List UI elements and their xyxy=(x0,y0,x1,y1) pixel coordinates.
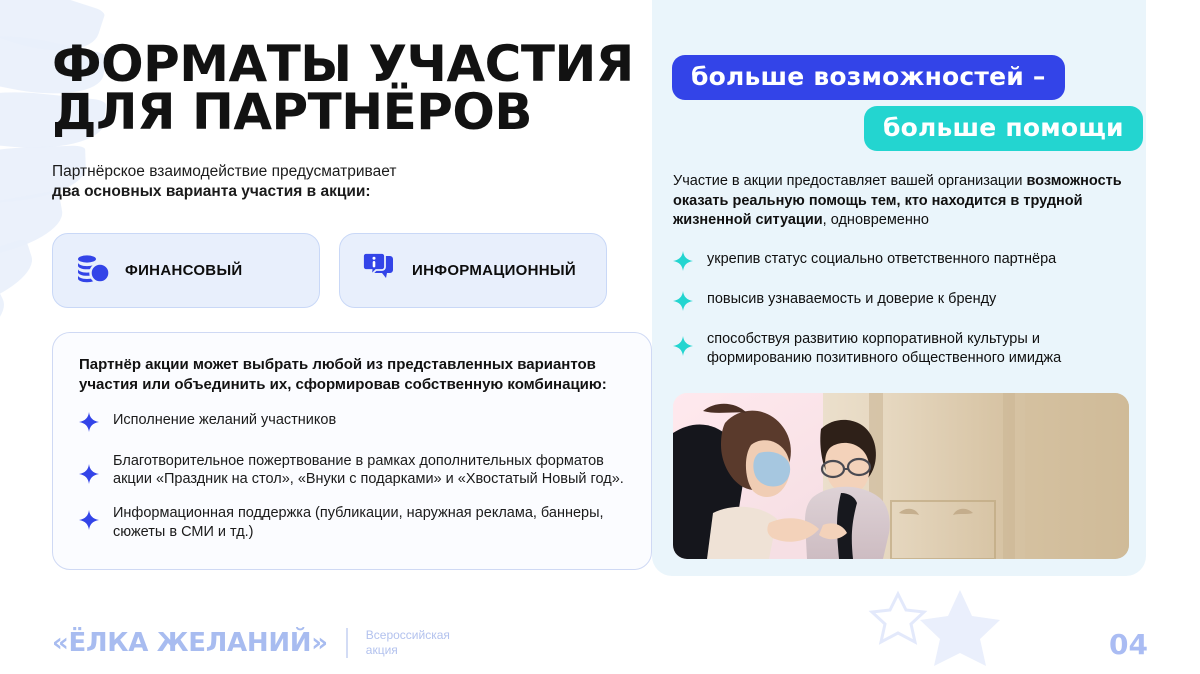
presentation-slide: ФОРМАТЫ УЧАСТИЯ ДЛЯ ПАРТНЁРОВ Партнёрско… xyxy=(0,0,1200,674)
page-title-line2: ДЛЯ ПАРТНЁРОВ xyxy=(52,88,652,136)
left-column: ФОРМАТЫ УЧАСТИЯ ДЛЯ ПАРТНЁРОВ Партнёрско… xyxy=(52,40,652,203)
sparkle-icon xyxy=(79,510,99,535)
combination-bullet-list: Исполнение желаний участников Благотвори… xyxy=(79,411,625,541)
combination-card-heading: Партнёр акции может выбрать любой из пре… xyxy=(79,355,625,395)
headline-badges: больше возможностей – больше помощи xyxy=(672,55,1152,145)
page-title: ФОРМАТЫ УЧАСТИЯ ДЛЯ ПАРТНЁРОВ xyxy=(52,40,652,136)
option-label-financial: ФИНАНСОВЫЙ xyxy=(125,262,243,279)
option-card-financial[interactable]: ФИНАНСОВЫЙ xyxy=(52,233,320,308)
page-number: 04 xyxy=(1109,628,1148,661)
right-intro-part1: Участие в акции предоставляет вашей орга… xyxy=(673,173,1026,189)
option-card-informational[interactable]: ИНФОРМАЦИОННЫЙ xyxy=(339,233,607,308)
list-item: Исполнение желаний участников xyxy=(79,411,625,437)
intro-line2: два основных варианта участия в акции: xyxy=(52,183,371,200)
badge-more-help: больше помощи xyxy=(864,106,1143,151)
footer-divider xyxy=(346,628,348,658)
list-item-text: Информационная поддержка (публикации, на… xyxy=(113,504,625,541)
benefits-list: укрепив статус социально ответственного … xyxy=(673,250,1133,381)
list-item: способствуя развитию корпоративной культ… xyxy=(673,330,1133,367)
footer-subtitle-line1: Всероссийская xyxy=(366,628,450,642)
footer-subtitle: Всероссийская акция xyxy=(366,628,450,657)
list-item: повысив узнаваемость и доверие к бренду xyxy=(673,290,1133,316)
sparkle-icon xyxy=(79,412,99,437)
option-label-informational: ИНФОРМАЦИОННЫЙ xyxy=(412,262,576,279)
intro-line1: Партнёрское взаимодействие предусматрива… xyxy=(52,163,396,180)
brand-logo: «ЁЛКА ЖЕЛАНИЙ» xyxy=(52,628,328,658)
sparkle-icon xyxy=(79,464,99,489)
decorative-stars xyxy=(868,588,1028,668)
footer-brand: «ЁЛКА ЖЕЛАНИЙ» Всероссийская акция xyxy=(52,628,450,658)
list-item-text: способствуя развитию корпоративной культ… xyxy=(707,330,1133,367)
list-item: Информационная поддержка (публикации, на… xyxy=(79,504,625,541)
right-intro-part2: , одновременно xyxy=(823,212,929,228)
list-item-text: Исполнение желаний участников xyxy=(113,411,336,430)
list-item: Благотворительное пожертвование в рамках… xyxy=(79,452,625,489)
list-item-text: укрепив статус социально ответственного … xyxy=(707,250,1056,269)
list-item-text: Благотворительное пожертвование в рамках… xyxy=(113,452,625,489)
participation-options: ФИНАНСОВЫЙ ИНФОРМАЦИОННЫЙ xyxy=(52,233,607,308)
badge-more-opportunities: больше возможностей – xyxy=(672,55,1065,100)
photo-volunteer-with-child xyxy=(673,393,1129,559)
sparkle-icon xyxy=(673,336,693,361)
list-item: укрепив статус социально ответственного … xyxy=(673,250,1133,276)
combination-card: Партнёр акции может выбрать любой из пре… xyxy=(52,332,652,570)
right-intro-paragraph: Участие в акции предоставляет вашей орга… xyxy=(673,172,1133,231)
list-item-text: повысив узнаваемость и доверие к бренду xyxy=(707,290,996,309)
sparkle-icon xyxy=(673,291,693,316)
speech-bubble-info-icon xyxy=(362,252,398,289)
sparkle-icon xyxy=(673,251,693,276)
coins-icon xyxy=(75,252,111,289)
intro-paragraph: Партнёрское взаимодействие предусматрива… xyxy=(52,162,652,203)
footer-subtitle-line2: акция xyxy=(366,643,398,657)
